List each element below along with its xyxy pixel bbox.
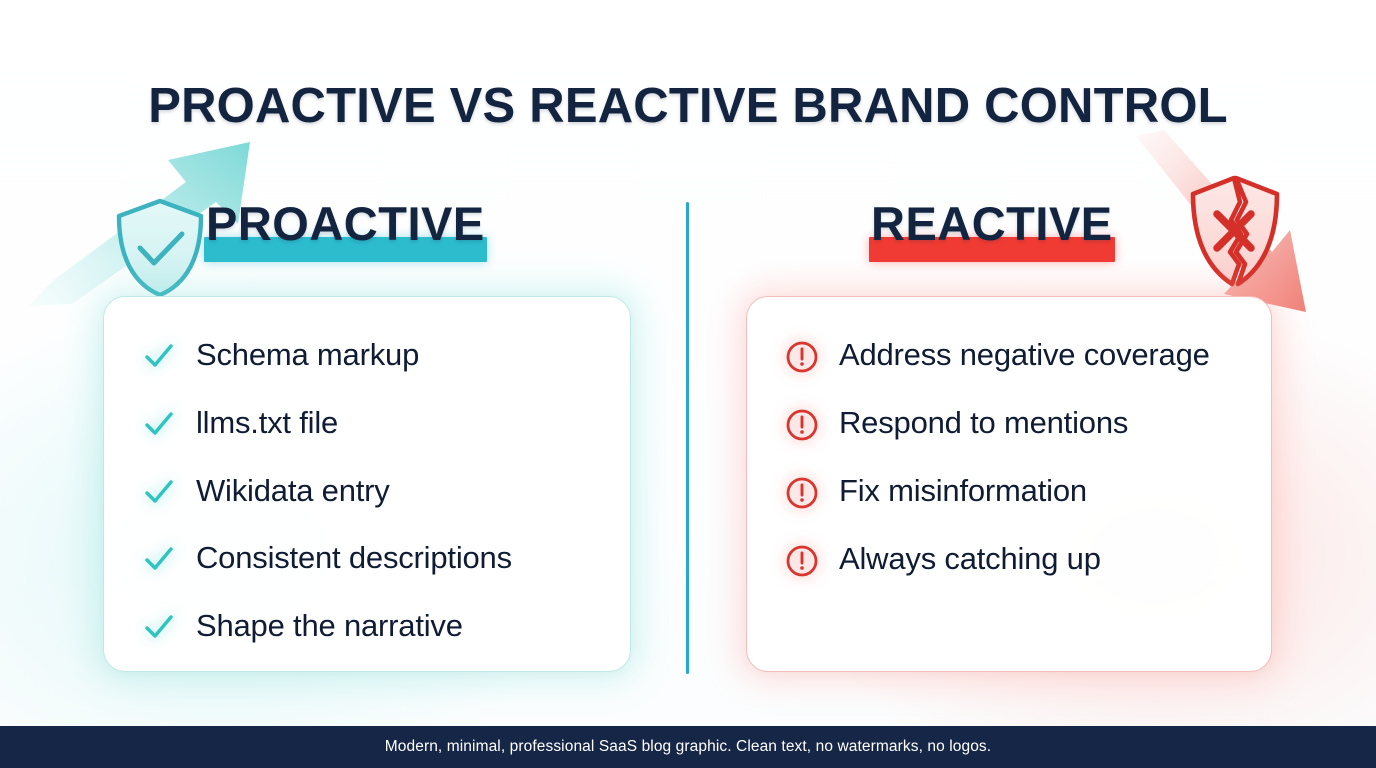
list-item-label: Consistent descriptions: [196, 538, 512, 577]
infographic-canvas: PROACTIVE VS REACTIVE BRAND CONTROL: [0, 0, 1376, 768]
list-item-label: Shape the narrative: [196, 606, 463, 645]
list-item-label: Wikidata entry: [196, 471, 390, 510]
list-item-label: Always catching up: [839, 539, 1101, 578]
reactive-card: Address negative coverage Respond to men…: [746, 296, 1272, 672]
alert-circle-icon: [785, 544, 819, 578]
list-item-label: Respond to mentions: [839, 403, 1128, 442]
broken-shield-x-icon: [1186, 172, 1286, 294]
list-item: llms.txt file: [142, 403, 600, 442]
caption-text: Modern, minimal, professional SaaS blog …: [385, 738, 991, 756]
column-heading-reactive: REACTIVE: [865, 196, 1119, 266]
alert-circle-icon: [785, 408, 819, 442]
list-item: Respond to mentions: [785, 403, 1241, 442]
check-icon: [142, 610, 176, 644]
list-item-label: Fix misinformation: [839, 471, 1087, 510]
proactive-list: Schema markup llms.txt file Wikidata ent…: [142, 335, 600, 645]
reactive-heading-text: REACTIVE: [865, 196, 1119, 251]
list-item: Fix misinformation: [785, 471, 1241, 510]
list-item: Schema markup: [142, 335, 600, 374]
page-title: PROACTIVE VS REACTIVE BRAND CONTROL: [0, 78, 1376, 134]
list-item: Consistent descriptions: [142, 538, 600, 577]
list-item-label: llms.txt file: [196, 403, 338, 442]
check-icon: [142, 542, 176, 576]
check-icon: [142, 339, 176, 373]
list-item: Wikidata entry: [142, 471, 600, 510]
proactive-card: Schema markup llms.txt file Wikidata ent…: [103, 296, 631, 672]
proactive-heading-text: PROACTIVE: [200, 196, 491, 251]
alert-circle-icon: [785, 476, 819, 510]
caption-bar: Modern, minimal, professional SaaS blog …: [0, 726, 1376, 768]
column-divider: [686, 202, 689, 674]
list-item-label: Schema markup: [196, 335, 419, 374]
list-item-label: Address negative coverage: [839, 335, 1210, 374]
list-item: Address negative coverage: [785, 335, 1241, 374]
check-icon: [142, 407, 176, 441]
column-heading-proactive: PROACTIVE: [200, 196, 491, 266]
reactive-list: Address negative coverage Respond to men…: [785, 335, 1241, 578]
check-icon: [142, 475, 176, 509]
shield-check-icon: [112, 196, 208, 300]
alert-circle-icon: [785, 340, 819, 374]
list-item: Always catching up: [785, 539, 1241, 578]
list-item: Shape the narrative: [142, 606, 600, 645]
